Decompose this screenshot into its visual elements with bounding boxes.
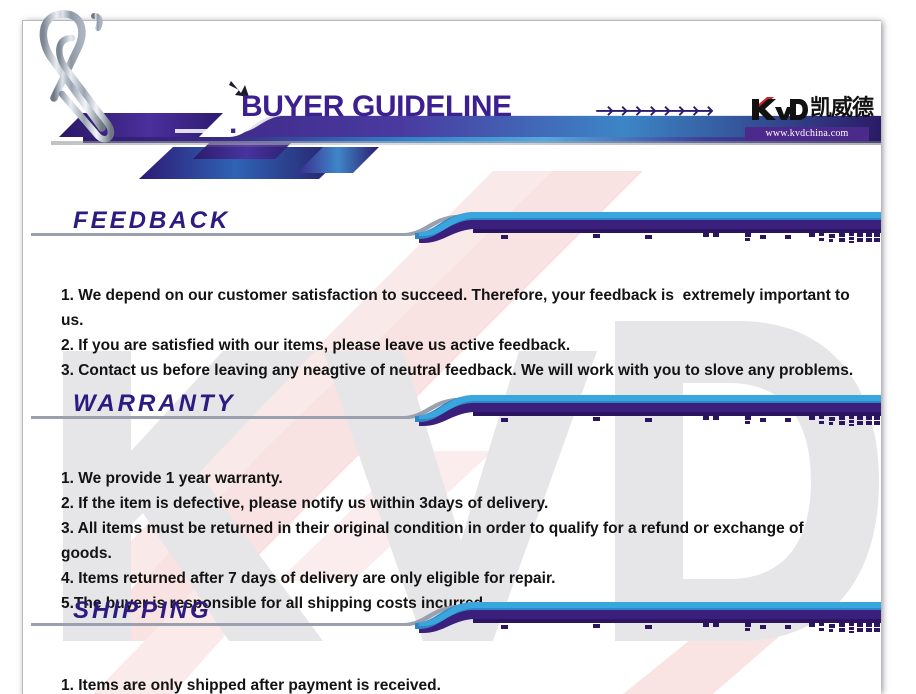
page-title: BUYER GUIDELINE <box>241 90 512 124</box>
brand-website-url: www.kvdchina.com <box>745 127 869 141</box>
guideline-item: 1. Items are only shipped after payment … <box>23 673 881 694</box>
guideline-item: 3. Contact us before leaving any neagtiv… <box>23 358 881 383</box>
paperclip-icon <box>32 2 172 162</box>
kvd-logo-mark <box>750 95 808 123</box>
guideline-item: 1. We provide 1 year warranty. <box>23 466 881 491</box>
section-title-shipping: SHIPPING <box>73 597 212 625</box>
brand-logo: 凯威德 <box>750 94 873 124</box>
section-warranty: WARRANTY1. We provide 1 year warranty.2.… <box>23 392 881 582</box>
section-body-shipping: 1. Items are only shipped after payment … <box>23 673 881 694</box>
brand-chinese-name: 凯威德 <box>810 98 873 120</box>
arrow-chain-icon: →→→→→→→→ <box>595 98 709 124</box>
section-shipping: SHIPPING1. Items are only shipped after … <box>23 599 881 689</box>
guideline-item: 3. All items must be returned in their o… <box>23 516 881 566</box>
guideline-item: 2. If the item is defective, please noti… <box>23 491 881 516</box>
section-header-shipping: SHIPPING <box>23 599 881 639</box>
section-header-warranty: WARRANTY <box>23 392 881 432</box>
section-feedback: FEEDBACK1. We depend on our customer sat… <box>23 209 881 349</box>
section-body-feedback: 1. We depend on our customer satisfactio… <box>23 283 881 383</box>
guideline-item: 1. We depend on our customer satisfactio… <box>23 283 881 333</box>
guideline-item: 2. If you are satisfied with our items, … <box>23 333 881 358</box>
guideline-item: 4. Items returned after 7 days of delive… <box>23 566 881 591</box>
section-body-warranty: 1. We provide 1 year warranty.2. If the … <box>23 466 881 616</box>
section-header-feedback: FEEDBACK <box>23 209 881 249</box>
section-title-warranty: WARRANTY <box>73 390 236 418</box>
section-title-feedback: FEEDBACK <box>73 207 230 235</box>
